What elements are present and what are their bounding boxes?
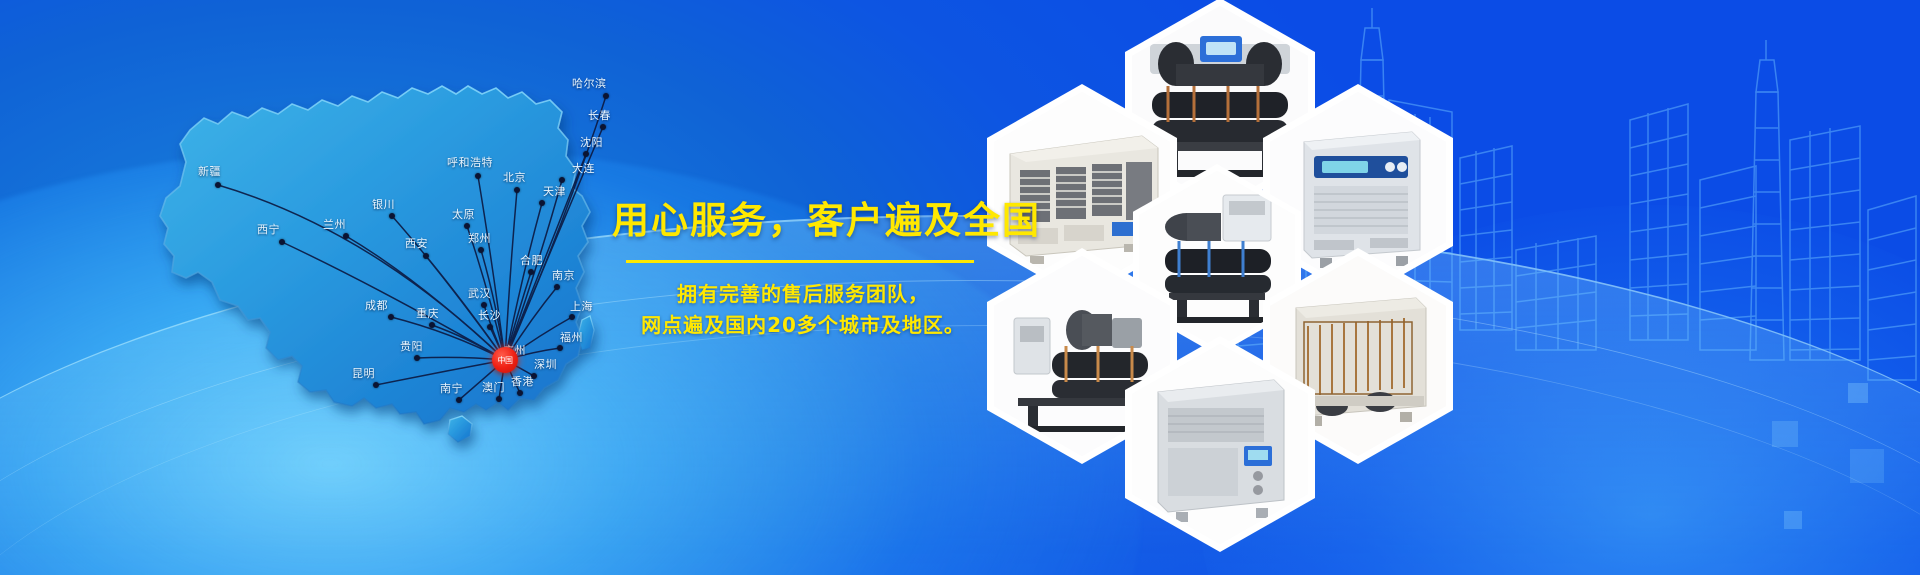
city-dot[interactable] <box>478 247 484 253</box>
city-label: 合肥 <box>520 255 543 266</box>
decorative-square-4 <box>1784 511 1802 529</box>
decorative-square-2 <box>1772 421 1798 447</box>
city-dot[interactable] <box>389 213 395 219</box>
city-dot[interactable] <box>414 355 420 361</box>
subtext-line-2: 网点遍及国内20多个城市及地区。 <box>614 310 992 341</box>
banner-subtext: 拥有完善的售后服务团队， 网点遍及国内20多个城市及地区。 <box>614 279 992 341</box>
city-dot[interactable] <box>388 314 394 320</box>
city-dot[interactable] <box>528 269 534 275</box>
city-label: 南宁 <box>440 383 463 394</box>
city-label: 新疆 <box>198 166 221 177</box>
city-label: 重庆 <box>416 308 439 319</box>
city-dot[interactable] <box>279 239 285 245</box>
city-dot[interactable] <box>531 373 537 379</box>
city-dot[interactable] <box>559 177 565 183</box>
decorative-square-1 <box>1848 383 1868 403</box>
city-dot[interactable] <box>603 93 609 99</box>
city-dot[interactable] <box>429 322 435 328</box>
city-dot[interactable] <box>464 223 470 229</box>
city-label: 长沙 <box>478 310 501 321</box>
city-label: 澳门 <box>482 382 505 393</box>
city-label: 武汉 <box>468 288 491 299</box>
box-type-chiller-image <box>1132 344 1308 544</box>
city-dot[interactable] <box>481 302 487 308</box>
city-label: 哈尔滨 <box>572 78 607 89</box>
city-label: 西宁 <box>257 224 280 235</box>
banner-headline: 用心服务，客户遍及全国 <box>612 200 1032 243</box>
city-dot[interactable] <box>583 151 589 157</box>
city-dot[interactable] <box>557 345 563 351</box>
city-label: 北京 <box>503 172 526 183</box>
city-dot[interactable] <box>600 124 606 130</box>
city-dot[interactable] <box>554 284 560 290</box>
product-hex-grid <box>975 0 1585 575</box>
city-label: 天津 <box>543 186 566 197</box>
hub-marker-shenzhen[interactable]: 中国 <box>492 347 518 373</box>
decorative-square-3 <box>1850 449 1884 483</box>
city-dot[interactable] <box>343 233 349 239</box>
city-label: 长春 <box>588 110 611 121</box>
city-dot[interactable] <box>517 390 523 396</box>
city-dot[interactable] <box>514 187 520 193</box>
city-dot[interactable] <box>539 200 545 206</box>
city-label: 郑州 <box>468 233 491 244</box>
subtext-line-1: 拥有完善的售后服务团队， <box>614 279 992 310</box>
city-label: 贵阳 <box>400 341 423 352</box>
city-label: 兰州 <box>323 219 346 230</box>
city-dot[interactable] <box>423 253 429 259</box>
city-label: 昆明 <box>352 368 375 379</box>
city-dot[interactable] <box>456 397 462 403</box>
city-label: 上海 <box>570 301 593 312</box>
banner-copy: 用心服务，客户遍及全国 拥有完善的售后服务团队， 网点遍及国内20多个城市及地区… <box>612 200 1032 341</box>
city-label: 西安 <box>405 238 428 249</box>
city-label: 太原 <box>452 209 475 220</box>
city-dot[interactable] <box>475 173 481 179</box>
city-label: 福州 <box>560 332 583 343</box>
city-label: 大连 <box>572 163 595 174</box>
city-dot[interactable] <box>496 396 502 402</box>
city-dot[interactable] <box>487 324 493 330</box>
city-label: 沈阳 <box>580 137 603 148</box>
service-network-banner: 哈尔滨长春沈阳大连北京天津呼和浩特新疆银川兰州西宁太原西安郑州合肥南京上海武汉长… <box>0 0 1920 575</box>
city-dot[interactable] <box>373 382 379 388</box>
city-dot[interactable] <box>569 314 575 320</box>
city-label: 深圳 <box>534 359 557 370</box>
city-label: 南京 <box>552 270 575 281</box>
city-label: 成都 <box>365 300 388 311</box>
city-label: 银川 <box>372 199 395 210</box>
city-label: 呼和浩特 <box>447 157 493 168</box>
headline-divider <box>626 260 974 263</box>
city-dot[interactable] <box>215 182 221 188</box>
